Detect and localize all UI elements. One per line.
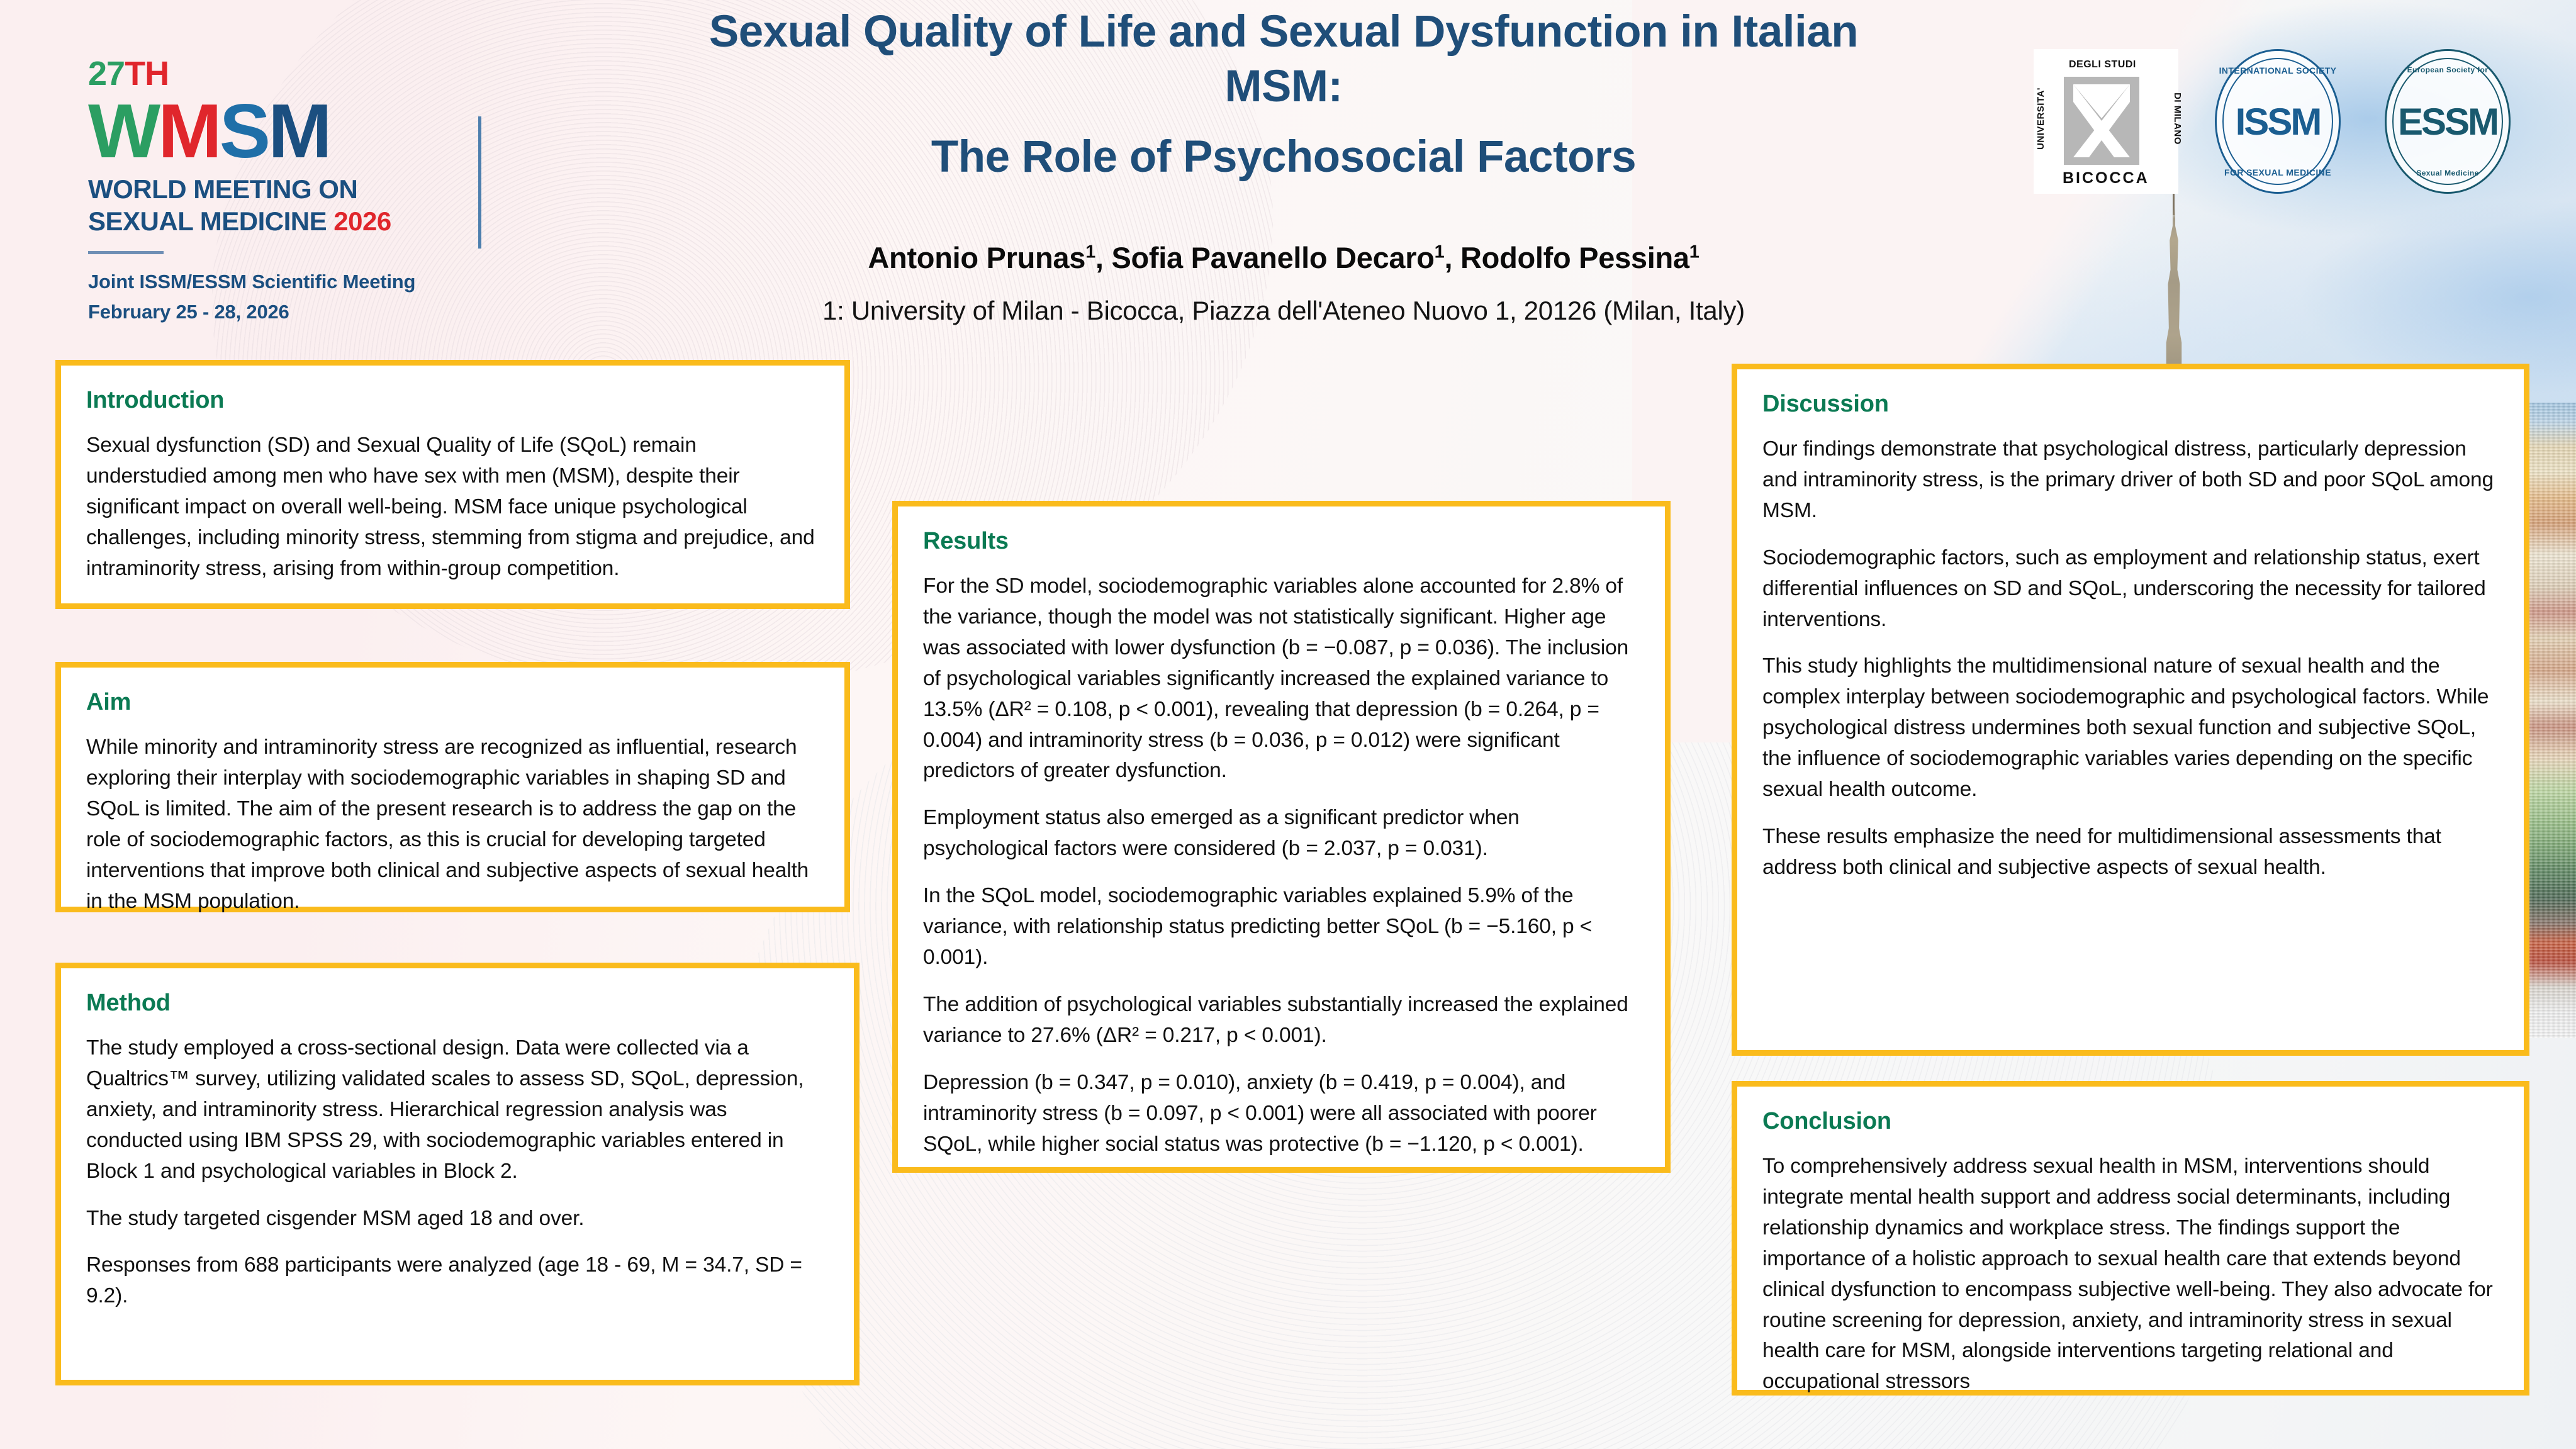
section-paragraph: The study employed a cross-sectional des… [86,1033,829,1187]
author-3-affiliation-marker: 1 [1689,242,1700,262]
logo-ordinal: 27TH [88,57,466,91]
section-heading-aim: Aim [86,689,819,716]
wmsm-conference-logo: 27TH WMSM WORLD MEETING ON SEXUAL MEDICI… [88,57,466,327]
author-2: , Sofia Pavanello Decaro [1095,241,1435,274]
logo-acronym: WMSM [88,92,466,170]
section-paragraph: Sociodemographic factors, such as employ… [1762,543,2499,635]
section-paragraph: In the SQoL model, sociodemographic vari… [923,881,1640,973]
section-method: Method The study employed a cross-sectio… [55,963,860,1385]
logo-ordinal-number: 27 [88,55,125,92]
section-paragraph: These results emphasize the need for mul… [1762,822,2499,883]
author-2-affiliation-marker: 1 [1435,242,1445,262]
author-list: Antonio Prunas1, Sofia Pavanello Decaro1… [478,240,2089,275]
section-paragraph: To comprehensively address sexual health… [1762,1151,2499,1397]
section-aim: Aim While minority and intraminority str… [55,662,850,912]
section-heading-results: Results [923,528,1640,555]
section-heading-method: Method [86,990,829,1017]
logo-subtitle-line2: SEXUAL MEDICINE [88,206,333,236]
author-1: Antonio Prunas [868,241,1085,274]
title-line-2: MSM: [478,60,2089,115]
section-paragraph: Our findings demonstrate that psychologi… [1762,434,2499,527]
bicocca-logo-text-right: DI MILANO [2172,92,2183,145]
section-discussion: Discussion Our findings demonstrate that… [1732,364,2529,1056]
section-paragraph: Sexual dysfunction (SD) and Sexual Quali… [86,430,819,585]
section-results: Results For the SD model, sociodemograph… [892,501,1671,1173]
logo-letter-s: S [220,88,268,174]
section-heading-introduction: Introduction [86,387,819,414]
logo-subtitle-line1: WORLD MEETING ON [88,174,357,204]
section-paragraph: Depression (b = 0.347, p = 0.010), anxie… [923,1068,1640,1160]
issm-logo: INTERNATIONAL SOCIETY ISSM FOR SEXUAL ME… [2215,49,2341,194]
section-paragraph: While minority and intraminority stress … [86,732,819,917]
section-paragraph: For the SD model, sociodemographic varia… [923,571,1640,786]
logo-letter-w: W [88,88,158,174]
title-line-3: The Role of Psychosocial Factors [478,130,2089,185]
page-title: Sexual Quality of Life and Sexual Dysfun… [478,5,2089,185]
section-paragraph: Responses from 688 participants were ana… [86,1250,829,1312]
section-paragraph: The addition of psychological variables … [923,990,1640,1051]
university-bicocca-logo: DEGLI STUDI UNIVERSITA' DI MILANO BICOCC… [2034,49,2178,194]
title-line-1: Sexual Quality of Life and Sexual Dysfun… [709,7,1858,57]
author-1-affiliation-marker: 1 [1085,242,1095,262]
bicocca-hourglass-icon [2070,83,2133,159]
section-conclusion: Conclusion To comprehensively address se… [1732,1081,2529,1396]
logo-ordinal-suffix: TH [125,55,169,92]
section-heading-conclusion: Conclusion [1762,1108,2499,1135]
logo-subtitle-year: 2026 [333,206,391,236]
bicocca-logo-text-top: DEGLI STUDI [2069,59,2136,70]
logo-meeting-info: Joint ISSM/ESSM Scientific Meeting Febru… [88,267,466,327]
bicocca-logo-text-left: UNIVERSITA' [2036,87,2046,150]
affiliation-line: 1: University of Milan - Bicocca, Piazza… [478,296,2089,326]
issm-logo-arc-bottom: FOR SEXUAL MEDICINE [2215,167,2341,177]
author-3: , Rodolfo Pessina [1445,241,1689,274]
logo-letter-m2: M [268,88,330,174]
logo-letter-m1: M [158,88,220,174]
section-paragraph: The study targeted cisgender MSM aged 18… [86,1204,829,1234]
poster-header: 27TH WMSM WORLD MEETING ON SEXUAL MEDICI… [0,0,2576,340]
logo-subtitle: WORLD MEETING ON SEXUAL MEDICINE 2026 [88,174,466,237]
essm-logo-arc-bottom: Sexual Medicine [2385,169,2511,177]
section-heading-discussion: Discussion [1762,391,2499,418]
section-paragraph: This study highlights the multidimension… [1762,651,2499,805]
meeting-dates: February 25 - 28, 2026 [88,301,289,323]
section-paragraph: Employment status also emerged as a sign… [923,803,1640,864]
section-introduction: Introduction Sexual dysfunction (SD) and… [55,360,850,609]
essm-logo: European Society for ESSM Sexual Medicin… [2385,49,2511,194]
bicocca-logo-text-bottom: BICOCCA [2063,169,2149,187]
meeting-name: Joint ISSM/ESSM Scientific Meeting [88,271,415,293]
logo-divider [88,251,164,254]
conference-poster: 27TH WMSM WORLD MEETING ON SEXUAL MEDICI… [0,0,2576,1449]
